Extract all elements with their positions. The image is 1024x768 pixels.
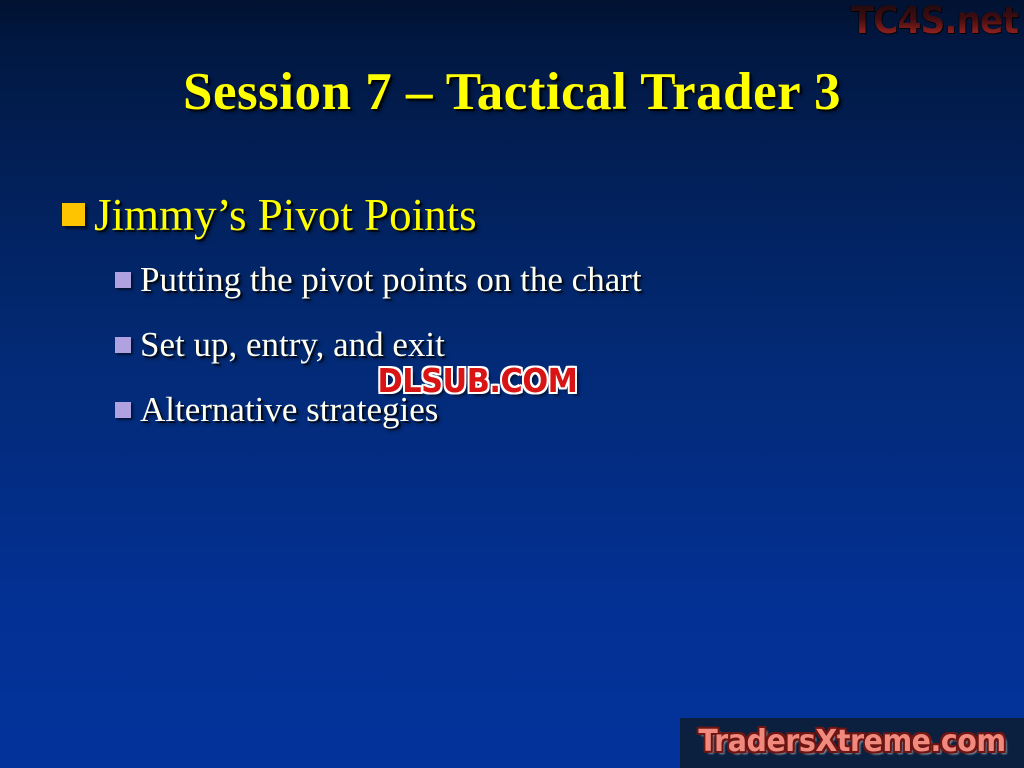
bullet-item-level1: Jimmy’s Pivot Points xyxy=(0,186,1024,244)
watermark-tc4s-net: TC4S.net xyxy=(851,1,1018,41)
square-bullet-icon xyxy=(115,337,131,353)
watermark-tradersxtreme-com: TradersXtreme.com xyxy=(690,724,1015,760)
bullet-text: Putting the pivot points on the chart xyxy=(140,258,642,302)
watermark-bottom-bar xyxy=(680,718,1024,768)
bullet-text: Jimmy’s Pivot Points xyxy=(94,186,477,244)
presentation-slide: Session 7 – Tactical Trader 3 Jimmy’s Pi… xyxy=(0,0,1024,768)
bullet-item-level2: Alternative strategies xyxy=(0,388,1024,432)
slide-body-bullet-list: Jimmy’s Pivot Points Putting the pivot p… xyxy=(0,186,1024,453)
bullet-item-level2: Set up, entry, and exit xyxy=(0,323,1024,367)
slide-title: Session 7 – Tactical Trader 3 xyxy=(0,61,1024,123)
bullet-text: Set up, entry, and exit xyxy=(140,323,445,367)
square-bullet-icon xyxy=(115,402,131,418)
bullet-text: Alternative strategies xyxy=(140,388,438,432)
bullet-item-level2: Putting the pivot points on the chart xyxy=(0,258,1024,302)
square-bullet-icon xyxy=(115,272,131,288)
square-bullet-icon xyxy=(62,203,85,226)
